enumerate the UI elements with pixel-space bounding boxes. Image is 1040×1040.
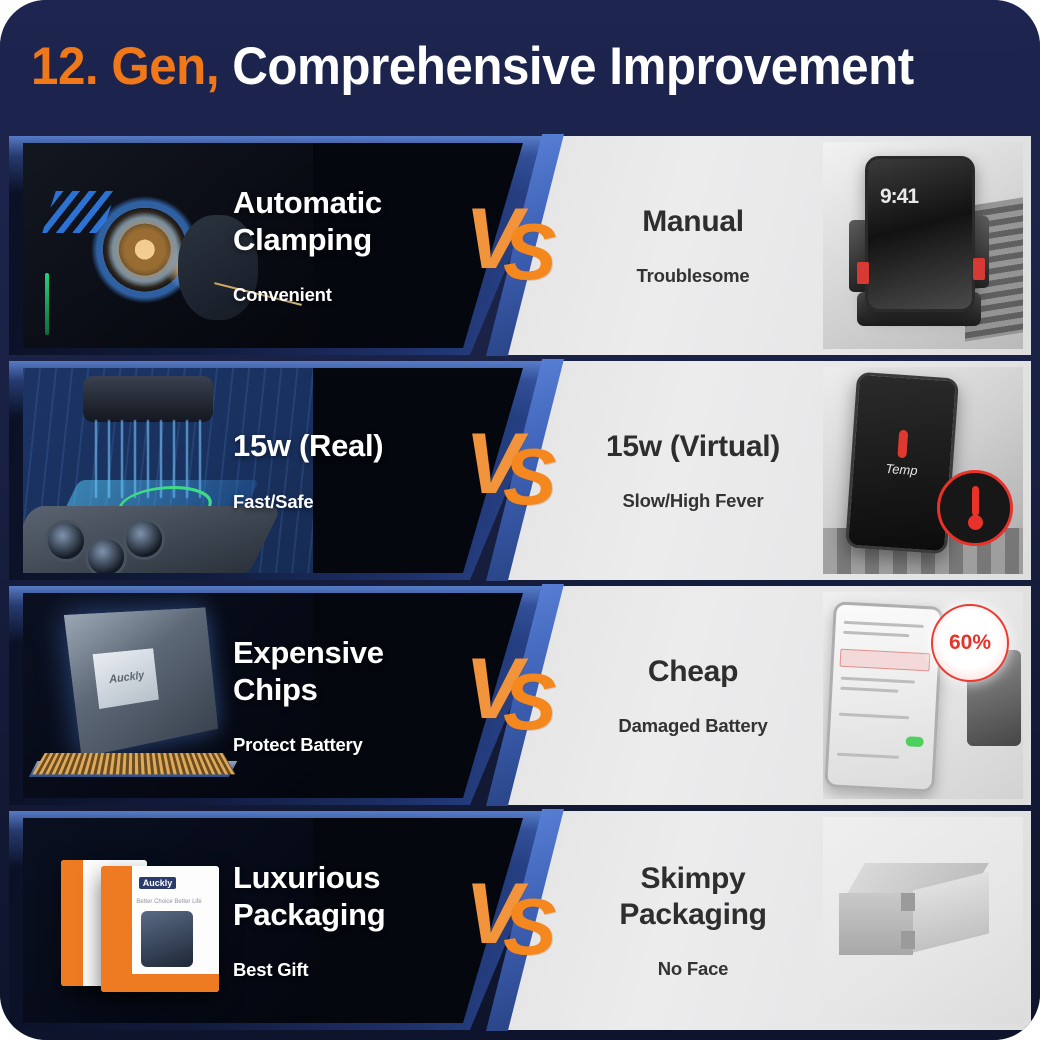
right-text-block: 15w (Virtual) Slow/High Fever — [543, 361, 843, 580]
comparison-row: Automatic Clamping Convenient 9:41 Manua… — [0, 136, 1040, 355]
decor-phone-clock: 9:41 — [880, 185, 918, 209]
decor-red-accent — [973, 258, 985, 280]
comparison-poster: 12. Gen, Comprehensive Improvement Auto — [0, 0, 1040, 1040]
image-battery-health-settings-screen: 60% — [823, 592, 1023, 799]
right-text-block: Manual Troublesome — [543, 136, 843, 355]
right-subtitle: Damaged Battery — [618, 715, 767, 737]
decor-text-line — [837, 753, 899, 759]
right-subtitle: Slow/High Fever — [623, 490, 764, 512]
decor-phone: 9:41 — [865, 156, 975, 312]
chip-brand-label: Auckly — [93, 648, 159, 709]
vs-badge: V S — [465, 646, 575, 746]
percentage-badge: 60% — [931, 604, 1009, 682]
decor-red-accent — [857, 262, 869, 284]
page-title: 12. Gen, Comprehensive Improvement — [31, 40, 914, 93]
left-title-line-1: Expensive — [233, 635, 483, 671]
right-title-line-1: Cheap — [648, 654, 738, 689]
left-subtitle: Protect Battery — [233, 734, 483, 756]
right-title-line-1: Skimpy — [641, 861, 746, 896]
comparison-row: 15w (Real) Fast/Safe Temp — [0, 361, 1040, 580]
left-title-line-2: Clamping — [233, 222, 483, 258]
left-title-line-1: 15w (Real) — [233, 428, 483, 464]
decor-cardboard-box — [839, 863, 989, 955]
decor-retail-box-front: Auckly Better Choice Better Life — [101, 866, 219, 992]
right-text-block: Cheap Damaged Battery — [543, 586, 843, 805]
decor-green-indicator — [45, 273, 49, 335]
left-subtitle: Fast/Safe — [233, 491, 483, 513]
right-text-block: Skimpy Packaging No Face — [543, 811, 843, 1030]
left-text-block: Expensive Chips Protect Battery — [233, 586, 483, 805]
right-title-line-1: 15w (Virtual) — [606, 429, 780, 464]
left-title-line-2: Chips — [233, 672, 483, 708]
vs-letter-s: S — [503, 437, 556, 517]
left-title-line-1: Automatic — [233, 185, 483, 221]
image-hand-adjusting-phone-mount: 9:41 — [823, 142, 1023, 349]
thermometer-badge — [937, 470, 1013, 546]
decor-toggle — [905, 736, 923, 747]
left-subtitle: Convenient — [233, 284, 483, 306]
image-plain-cardboard-box — [823, 817, 1023, 1024]
left-subtitle: Best Gift — [233, 959, 483, 981]
box-tagline: Better Choice Better Life — [136, 899, 201, 905]
right-title-line-1: Manual — [642, 204, 744, 239]
vs-letter-s: S — [503, 212, 556, 292]
left-text-block: Luxurious Packaging Best Gift — [233, 811, 483, 1030]
decor-phone-label: Temp — [853, 459, 950, 481]
box-brand-label: Auckly — [139, 877, 177, 889]
thermometer-icon — [968, 486, 982, 530]
decor-camera-lens — [45, 520, 87, 562]
left-title-line-1: Luxurious — [233, 860, 483, 896]
poster-header: 12. Gen, Comprehensive Improvement — [0, 0, 1040, 133]
title-accent: 12. Gen, — [31, 37, 219, 96]
percentage-badge-value: 60% — [949, 631, 991, 655]
left-title-line-2: Packaging — [233, 897, 483, 933]
decor-camera-lens — [123, 518, 165, 560]
right-title-line-2: Packaging — [619, 897, 766, 932]
decor-text-line — [840, 687, 898, 693]
decor-highlight-row — [840, 649, 931, 672]
comparison-row: Auckly Better Choice Better Life Luxurio… — [0, 811, 1040, 1030]
left-text-block: 15w (Real) Fast/Safe — [233, 361, 483, 580]
right-subtitle: No Face — [658, 958, 729, 980]
decor-text-line — [841, 677, 915, 684]
vs-badge: V S — [465, 421, 575, 521]
vs-letter-s: S — [503, 662, 556, 742]
comparison-row: Auckly Expensive Chips Protect Battery — [0, 586, 1040, 805]
decor-text-line — [844, 621, 924, 628]
image-overheating-phone-in-car: Temp — [823, 367, 1023, 574]
decor-pcb-board: Auckly — [64, 607, 218, 757]
right-subtitle: Troublesome — [637, 265, 750, 287]
decor-emitter — [83, 376, 213, 422]
title-plain: Comprehensive Improvement — [232, 37, 913, 96]
thermometer-icon — [897, 430, 908, 459]
vs-letter-s: S — [503, 887, 556, 967]
motion-arrows-icon — [42, 191, 116, 233]
decor-gold-pins — [32, 753, 235, 774]
vs-badge: V S — [465, 871, 575, 971]
vs-badge: V S — [465, 196, 575, 296]
left-text-block: Automatic Clamping Convenient — [233, 136, 483, 355]
decor-text-line — [843, 631, 909, 637]
decor-camera-lens — [85, 536, 127, 573]
decor-text-line — [839, 713, 909, 720]
decor-product-render — [141, 911, 193, 966]
